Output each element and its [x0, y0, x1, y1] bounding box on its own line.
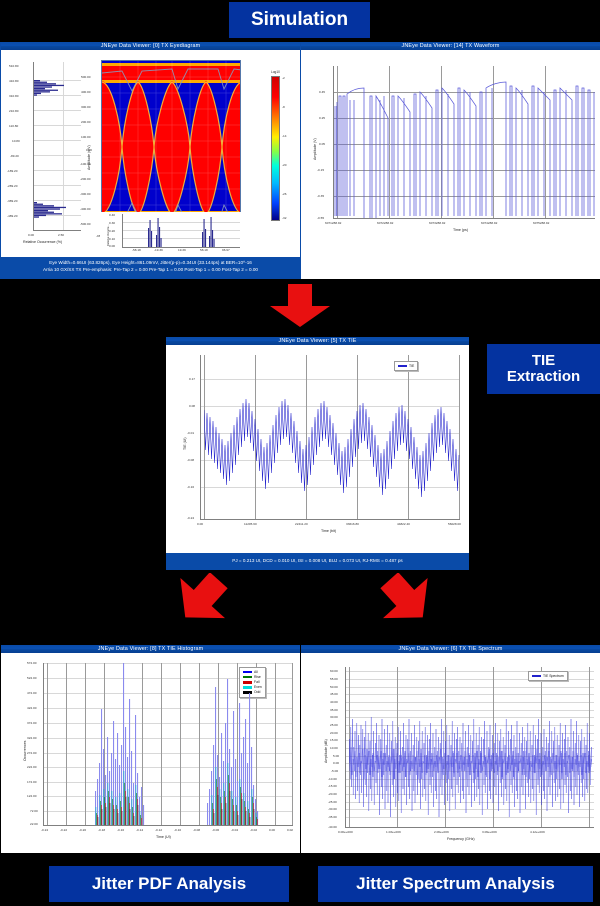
spectrum-xtitle: Frequency (GHz): [447, 837, 475, 841]
spec-ytick-13: -5.00: [331, 769, 338, 773]
hist-ytick-5: 322.00: [27, 736, 36, 740]
panel-tx-waveform[interactable]: JNEye Data Viewer: [14] TX Waveform 0.45…: [301, 42, 600, 279]
hist-bottom-ytick-0: 0.40: [109, 213, 115, 217]
waveform-ytick-0: 0.45: [319, 90, 325, 94]
hist-left-ytick-4: 110.80: [9, 124, 18, 128]
panel-tx-tie-spectrum[interactable]: JNEye Data Viewer: [6] TX TIE Spectrum 6…: [301, 645, 600, 853]
hist-left-xaxis: [33, 230, 81, 231]
spec-ytick-17: -25.00: [328, 800, 337, 804]
tie-status-text: PJ = 0.213 UI, DCD = 0.010 UI, ISI = 0.0…: [232, 558, 402, 563]
spec-ytick-14: -10.00: [328, 777, 337, 781]
tie-xtitle: Time (bit): [321, 529, 336, 533]
tie-xtick-4: 44822.40: [397, 522, 410, 526]
eye-ytick-5: 0.00: [86, 148, 92, 152]
tie-ytick-2: -0.01: [187, 431, 194, 435]
hist-ytick-6: 272.00: [27, 751, 36, 755]
stage-label-simulation-text: Simulation: [251, 10, 348, 31]
hist-ytick-0: 572.00: [27, 661, 36, 665]
colorbar-tick-5: -32: [282, 216, 286, 220]
eyediagram-bottom-histogram[interactable]: 0.40 0.30 0.20 0.10 0.00 Relative Occurr…: [100, 212, 241, 255]
spectrum-xaxis: [345, 827, 594, 828]
tie-xtick-0: 0.00: [197, 522, 203, 526]
hist-ytick-1: 522.00: [27, 676, 36, 680]
panel-title-spectrum: JNEye Data Viewer: [6] TX TIE Spectrum: [301, 645, 600, 653]
spec-ytick-4: 40.00: [330, 700, 338, 704]
colorbar-tick-4: -26: [282, 192, 286, 196]
spectrum-ytitle: Amplitude (dB): [324, 739, 328, 763]
hist-bottom-xtick-3: 58.18: [200, 248, 208, 252]
hist-xtick-4: -0.16: [117, 828, 124, 832]
eyediagram-image-frame[interactable]: [101, 60, 241, 232]
spec-ytick-8: 20.00: [330, 731, 338, 735]
spec-ytick-20: -40.00: [328, 825, 337, 829]
waveform-xtitle: Time (ps): [453, 228, 468, 232]
tie-ytick-5: -0.24: [187, 516, 194, 520]
tie-statusbar: PJ = 0.213 UI, DCD = 0.010 UI, ISI = 0.0…: [166, 553, 469, 570]
hist-left-trace: [34, 62, 81, 230]
hist-left-xtitle: Relative Occurrence (%): [23, 240, 62, 244]
eyediagram-status-line1: Eye Width=0.66UI (63.826ps), Eye Height=…: [3, 259, 298, 266]
waveform-ytick-3: -0.15: [317, 168, 324, 172]
tie-ytick-1: 0.08: [189, 404, 195, 408]
hist-xtick-1: -0.22: [60, 828, 67, 832]
hist-ytick-3: 422.00: [27, 706, 36, 710]
hist-ytick-2: 472.00: [27, 691, 36, 695]
hist-ytick-9: 122.00: [27, 794, 36, 798]
eye-ytick-4: 100.00: [81, 135, 90, 139]
stage-label-jitter-pdf-text: Jitter PDF Analysis: [92, 875, 246, 894]
waveform-ytick-5: -0.55: [317, 216, 324, 220]
spectrum-yaxis: [345, 667, 346, 827]
hist-xtick-5: -0.14: [136, 828, 143, 832]
stage-label-tie-line1: TIE: [532, 353, 555, 370]
hist-left-ytick-8: -289.20: [7, 184, 18, 188]
arrow-tie-to-jitter-pdf: [160, 573, 240, 629]
tie-xtick-1: 11205.60: [244, 522, 257, 526]
colorbar-tick-2: -14: [282, 134, 286, 138]
hist-left-ytick-3: 210.80: [9, 109, 18, 113]
tie-ytick-0: 0.17: [189, 377, 195, 381]
eye-ytick-6: -100.00: [80, 162, 91, 166]
spec-ytick-19: -35.00: [328, 815, 337, 819]
tie-ytick-3: -0.08: [187, 458, 194, 462]
hist-ytick-10: 72.00: [30, 809, 38, 813]
panel-title-histogram: JNEye Data Viewer: [8] TX TIE Histogram: [1, 645, 300, 653]
eye-ytick-7: -200.00: [80, 177, 91, 181]
spec-ytick-10: 10.00: [330, 746, 338, 750]
tie-trace: [204, 355, 460, 519]
spectrum-plot[interactable]: 60.00 55.00 50.00 45.00 40.00 35.00 30.0…: [301, 653, 600, 853]
hist-xtick-12: 0.00: [269, 828, 275, 832]
histogram-xaxis: [43, 825, 293, 826]
hist-xtick-8: -0.08: [193, 828, 200, 832]
eyediagram-statusbar: Eye Width=0.66UI (63.826ps), Eye Height=…: [1, 258, 300, 278]
tie-plot[interactable]: 0.17 0.08 -0.01 -0.08 -0.16 -0.24 TIE (U…: [166, 345, 469, 553]
colorbar-tick-0: -2: [282, 76, 285, 80]
hist-left-ytick-7: -189.20: [7, 169, 18, 173]
spec-xtick-0: 0.00e+000: [338, 830, 353, 834]
spec-ytick-15: -15.00: [328, 784, 337, 788]
colorbar-tick-3: -20: [282, 163, 286, 167]
hist-xtick-10: -0.04: [231, 828, 238, 832]
hist-xtick-2: -0.20: [79, 828, 86, 832]
eye-ytick-2: 300.00: [81, 105, 90, 109]
hist-xtick-13: 0.02: [287, 828, 293, 832]
eye-ytick-9: -400.00: [80, 207, 91, 211]
panel-tx-tie-histogram[interactable]: JNEye Data Viewer: [8] TX TIE Histogram …: [1, 645, 300, 853]
hist-left-ytick-1: 410.80: [9, 79, 18, 83]
hist-ytick-7: 222.00: [27, 765, 36, 769]
spec-ytick-1: 55.00: [330, 677, 338, 681]
tie-xtick-3: 33616.80: [346, 522, 359, 526]
hist-xtick-11: -0.02: [250, 828, 257, 832]
spec-ytick-3: 45.00: [330, 692, 338, 696]
waveform-xtick-2: 6073288.92: [429, 221, 445, 225]
hist-xtick-0: -0.24: [41, 828, 48, 832]
spec-xtick-4: 4.12e+009: [530, 830, 545, 834]
stage-label-simulation: Simulation: [229, 2, 370, 38]
hist-xtick-6: -0.12: [155, 828, 162, 832]
waveform-xtick-3: 6074288.92: [481, 221, 497, 225]
tie-xaxis: [200, 519, 460, 520]
colorbar: [271, 76, 280, 221]
colorbar-tick-1: -8: [282, 105, 285, 109]
hist-xtick-7: -0.10: [174, 828, 181, 832]
eye-ytick-3: 200.00: [81, 120, 90, 124]
arrow-simulation-to-tie: [268, 284, 332, 328]
eyediagram-image: [102, 61, 241, 232]
spec-ytick-11: 5.00: [333, 754, 339, 758]
hist-left-ytick-9: -389.20: [7, 199, 18, 203]
spec-ytick-16: -20.00: [328, 792, 337, 796]
eye-ytick-10: -500.00: [80, 222, 91, 226]
tie-ytitle: TIE (UI): [183, 437, 187, 450]
hist-bottom-xtick-0: -58.18: [132, 248, 141, 252]
panel-title-tie: JNEye Data Viewer: [5] TX TIE: [166, 337, 469, 345]
stage-label-jitter-pdf: Jitter PDF Analysis: [49, 866, 289, 902]
hist-left-ytick-6: -89.20: [10, 154, 19, 158]
histogram-ytitle: Occurrences: [23, 741, 27, 761]
spec-ytick-5: 35.00: [330, 708, 338, 712]
eye-ytick-0: 500.00: [81, 75, 90, 79]
spec-xtick-2: 2.06e+009: [434, 830, 449, 834]
spec-ytick-6: 30.00: [330, 715, 338, 719]
spec-ytick-0: 60.00: [330, 669, 338, 673]
histogram-plot[interactable]: 572.00 522.00 472.00 422.00 372.00 322.0…: [1, 653, 300, 853]
hist-left-ytick-0: 510.80: [9, 64, 18, 68]
stage-label-tie-line2: Extraction: [507, 369, 580, 386]
hist-left-ytick-2: 310.80: [9, 94, 18, 98]
tie-ytick-4: -0.16: [187, 485, 194, 489]
panel-title-eyediagram: JNEye Data Viewer: [0] TX Eyediagram: [1, 42, 300, 50]
hist-ytick-4: 372.00: [27, 721, 36, 725]
hist-ytick-11: 22.00: [30, 822, 38, 826]
stage-label-jitter-spectrum-text: Jitter Spectrum Analysis: [356, 875, 555, 894]
hist-bottom-trace: [123, 214, 240, 247]
stage-label-tie-extraction: TIE Extraction: [487, 344, 600, 394]
spec-xtick-1: 1.03e+009: [386, 830, 401, 834]
waveform-plot[interactable]: 0.45 0.25 0.05 -0.15 -0.35 -0.55 Amplitu…: [301, 50, 600, 279]
spectrum-trace: [349, 667, 592, 827]
spec-ytick-12: 0.00: [333, 761, 339, 765]
waveform-xaxis: [333, 218, 595, 219]
waveform-ytick-4: -0.35: [317, 194, 324, 198]
spec-ytick-7: 25.00: [330, 723, 338, 727]
waveform-trace: [334, 66, 595, 218]
hist-bottom-xtick-1: -19.39: [154, 248, 163, 252]
hist-xtick-9: -0.06: [212, 828, 219, 832]
spec-ytick-9: 15.00: [330, 738, 338, 742]
spec-ytick-18: -30.00: [328, 807, 337, 811]
hist-left-ytick-10: -489.20: [7, 214, 18, 218]
histogram-xtitle: Time (UI): [156, 835, 171, 839]
eye-ytick-8: -300.00: [80, 192, 91, 196]
hist-xtick-3: -0.18: [98, 828, 105, 832]
waveform-xtick-0: 6071288.92: [325, 221, 341, 225]
waveform-xtick-4: 6075288.92: [533, 221, 549, 225]
waveform-ytitle: Amplitude (V): [313, 138, 317, 160]
tie-xtick-5: 56028.00: [448, 522, 461, 526]
histogram-bars: [44, 663, 293, 825]
panel-tx-tie[interactable]: JNEye Data Viewer: [5] TX TIE 0.17 0.08 …: [166, 337, 469, 570]
stage-label-jitter-spectrum: Jitter Spectrum Analysis: [318, 866, 593, 902]
panel-title-waveform: JNEye Data Viewer: [14] TX Waveform: [301, 42, 600, 50]
hist-ytick-8: 172.00: [27, 780, 36, 784]
spec-xtick-3: 3.09e+009: [482, 830, 497, 834]
hist-left-xtick-0: 0.00: [28, 233, 34, 237]
hist-left-xtick-1: 2.50: [58, 233, 64, 237]
colorbar-title: Log10: [271, 70, 280, 74]
hist-bottom-ytitle: Relative Occurre...: [107, 225, 110, 246]
spec-ytick-2: 50.00: [330, 685, 338, 689]
hist-bottom-xtick-2: 19.39: [178, 248, 186, 252]
waveform-ytick-2: 0.05: [319, 142, 325, 146]
eyediagram-status-line2: Arria 10 GX/SX TX Pre-emphasis: Pre-Tap …: [3, 266, 298, 273]
hist-left-ytick-5: 10.80: [12, 139, 20, 143]
eye-ytick-1: 400.00: [81, 90, 90, 94]
tie-xtick-2: 22411.20: [295, 522, 308, 526]
waveform-xtick-1: 6072288.92: [377, 221, 393, 225]
waveform-ytick-1: 0.25: [319, 116, 325, 120]
arrow-tie-to-jitter-spectrum: [368, 573, 448, 629]
hist-bottom-xtick-4: 96.97: [222, 248, 230, 252]
